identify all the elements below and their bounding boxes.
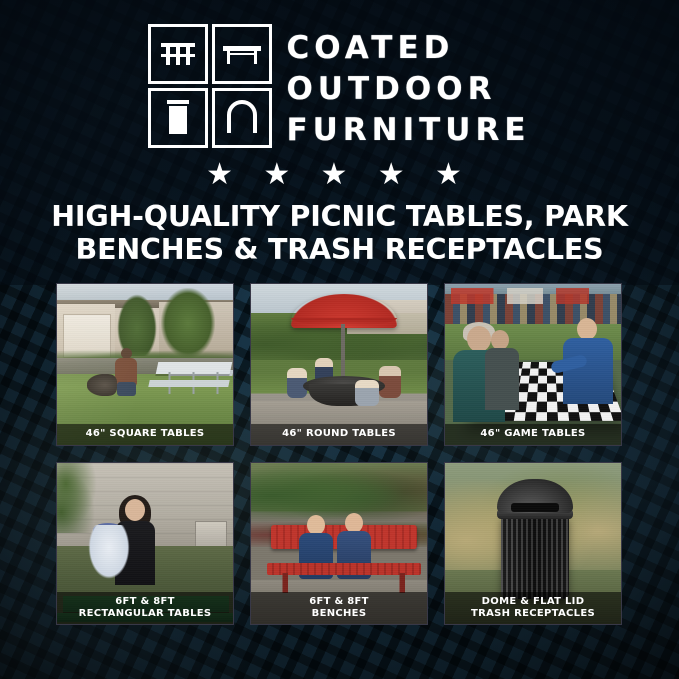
gallery-card-square-tables[interactable]: 46" SQUARE TABLES [56,283,234,446]
product-poster: COATED OUTDOOR FURNITURE ★ ★ ★ ★ ★ HIGH-… [0,0,679,679]
page-title: HIGH-QUALITY PICNIC TABLES, PARK BENCHES… [0,200,679,266]
gallery-caption-square-tables: 46" SQUARE TABLES [57,424,233,445]
logo-cell-picnic-table-icon [148,24,208,84]
logo-cell-bench-icon [212,24,272,84]
gallery-caption-round-tables: 46" ROUND TABLES [251,424,427,445]
wordmark-line-3: FURNITURE [286,110,530,151]
caption-line-1: DOME & FLAT LID [447,596,619,608]
gallery-caption-rectangular-tables: 6FT & 8FT RECTANGULAR TABLES [57,592,233,624]
caption-line-1: 6FT & 8FT [253,596,425,608]
picnic-table-and-bench-logo-icon [148,24,272,148]
caption-line-2: TRASH RECEPTACLES [447,608,619,620]
caption-line-2: RECTANGULAR TABLES [59,608,231,620]
poster-content: COATED OUTDOOR FURNITURE ★ ★ ★ ★ ★ HIGH-… [0,0,679,679]
photo-round-tables [251,284,427,445]
gallery-card-rectangular-tables[interactable]: 6FT & 8FT RECTANGULAR TABLES [56,462,234,625]
headline-line-1: HIGH-QUALITY PICNIC TABLES, PARK [24,200,655,233]
wordmark-line-2: OUTDOOR [286,69,530,110]
caption-line-1: 6FT & 8FT [59,596,231,608]
gallery-card-round-tables[interactable]: 46" ROUND TABLES [250,283,428,446]
gallery-card-benches[interactable]: 6FT & 8FT BENCHES [250,462,428,625]
product-gallery-grid: 46" SQUARE TABLES 46" ROUND TABLES [56,283,623,625]
logo-cell-arched-receptacle-icon [212,88,272,148]
star-rating: ★ ★ ★ ★ ★ [0,160,679,190]
photo-game-tables [445,284,621,445]
caption-line-2: BENCHES [253,608,425,620]
headline-line-2: BENCHES & TRASH RECEPTACLES [24,233,655,266]
gallery-card-trash-receptacles[interactable]: DOME & FLAT LID TRASH RECEPTACLES [444,462,622,625]
wordmark-line-1: COATED [286,28,530,69]
gallery-caption-benches: 6FT & 8FT BENCHES [251,592,427,624]
brand-logo: COATED OUTDOOR FURNITURE [0,24,679,151]
gallery-caption-game-tables: 46" GAME TABLES [445,424,621,445]
logo-cell-trash-receptacle-icon [148,88,208,148]
gallery-card-game-tables[interactable]: 46" GAME TABLES [444,283,622,446]
photo-square-tables [57,284,233,445]
brand-wordmark: COATED OUTDOOR FURNITURE [286,24,530,151]
gallery-caption-trash-receptacles: DOME & FLAT LID TRASH RECEPTACLES [445,592,621,624]
